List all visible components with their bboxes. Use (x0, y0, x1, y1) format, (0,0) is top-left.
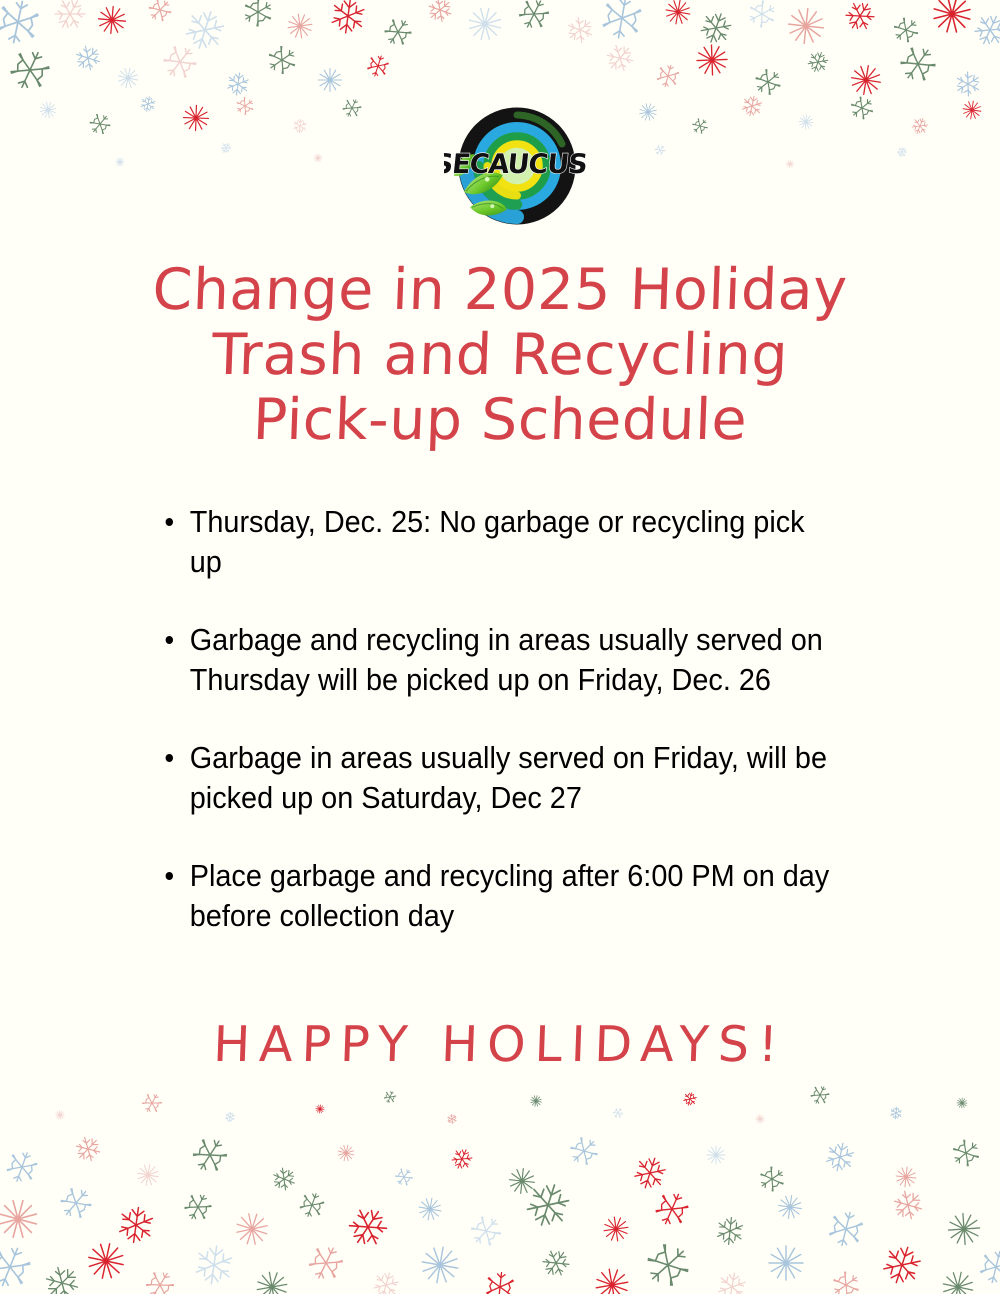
title-line-3: Pick-up Schedule (0, 388, 1000, 453)
snowflake-border-bottom (0, 1079, 1000, 1294)
closing-greeting: HAPPY HOLIDAYS! (0, 1014, 1000, 1076)
list-item: Place garbage and recycling after 6:00 P… (160, 856, 830, 936)
logo-wordmark: SECAUCUS (432, 149, 588, 180)
title-line-2: Trash and Recycling (0, 323, 1000, 388)
secaucus-logo: SECAUCUS (430, 100, 600, 240)
bullet-dot-icon (166, 754, 173, 762)
bullet-dot-icon (166, 636, 173, 644)
title-line-1: Change in 2025 Holiday (0, 258, 1000, 323)
list-item: Garbage and recycling in areas usually s… (160, 620, 830, 700)
list-item-text: Thursday, Dec. 25: No garbage or recycli… (190, 502, 830, 582)
list-item-text: Place garbage and recycling after 6:00 P… (190, 856, 830, 936)
list-item: Garbage in areas usually served on Frida… (160, 738, 830, 818)
bullet-dot-icon (166, 872, 173, 880)
list-item-text: Garbage and recycling in areas usually s… (190, 620, 830, 700)
list-item-text: Garbage in areas usually served on Frida… (190, 738, 830, 818)
list-item: Thursday, Dec. 25: No garbage or recycli… (160, 502, 830, 582)
flyer-page: SECAUCUS Change in 2025 Holiday Trash an… (0, 0, 1000, 1294)
page-title: Change in 2025 Holiday Trash and Recycli… (0, 258, 1000, 453)
bullet-dot-icon (166, 518, 173, 526)
schedule-bullet-list: Thursday, Dec. 25: No garbage or recycli… (160, 502, 880, 936)
